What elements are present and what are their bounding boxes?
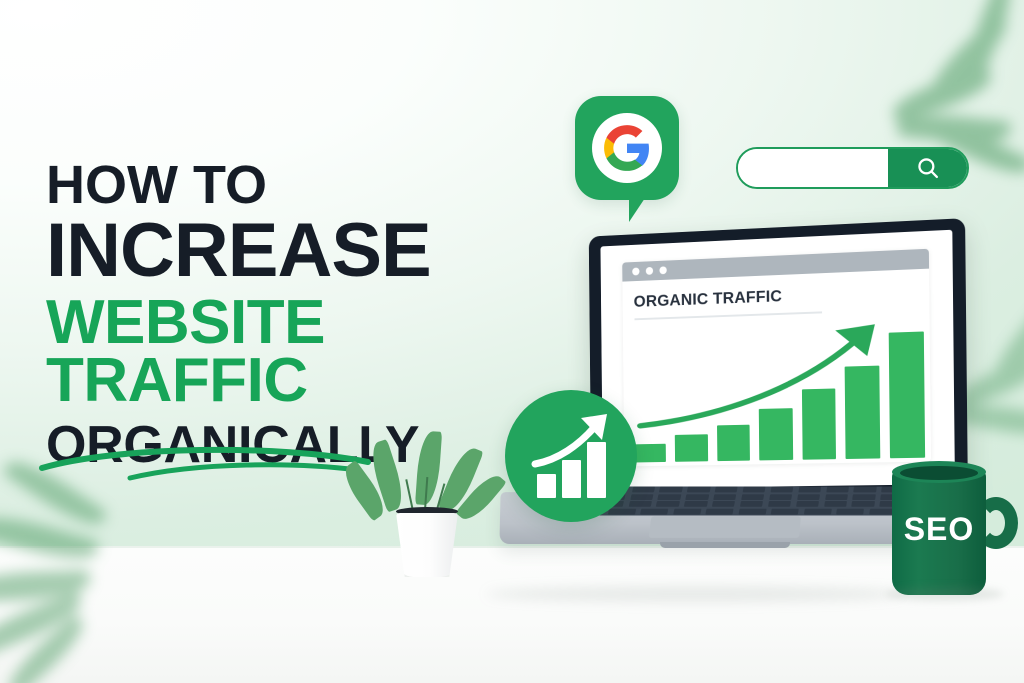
browser-title-bar (622, 249, 928, 282)
poster-canvas: HOW TO INCREASE WEBSITE TRAFFIC ORGANICA… (0, 0, 1024, 683)
keyboard-key[interactable] (826, 487, 849, 493)
chart-bar (889, 331, 925, 458)
laptop-trackpad[interactable] (649, 516, 801, 538)
laptop-shadow (486, 586, 906, 602)
keyboard-key[interactable] (796, 501, 819, 507)
keyboard-key[interactable] (641, 508, 669, 514)
search-button[interactable] (888, 149, 967, 187)
keyboard-key[interactable] (768, 501, 791, 507)
headline-line-1: HOW TO (46, 160, 586, 211)
keyboard-key[interactable] (797, 494, 820, 500)
keyboard-key[interactable] (673, 508, 701, 514)
potted-plant (365, 437, 487, 577)
leaf-blob-bottom-left-icon (0, 480, 180, 670)
laptop-front-lip (660, 542, 790, 548)
keyboard-key[interactable] (712, 501, 736, 507)
keyboard-key[interactable] (825, 494, 848, 500)
mug-label: SEO (892, 511, 986, 548)
chart-bar (802, 389, 837, 460)
keyboard-key[interactable] (706, 508, 734, 514)
keyboard-key[interactable] (656, 501, 680, 507)
growth-chart-arrow-icon (505, 390, 637, 522)
keyboard-key[interactable] (684, 501, 708, 507)
keyboard-key[interactable] (770, 487, 793, 493)
google-speech-bubble[interactable] (575, 96, 679, 200)
mug-interior (900, 466, 978, 480)
chart-title: ORGANIC TRAFFIC (634, 286, 783, 311)
keyboard-key[interactable] (804, 508, 832, 514)
chart-bar (845, 365, 880, 459)
keyboard-key[interactable] (769, 494, 792, 500)
keyboard-key[interactable] (853, 494, 876, 500)
keyboard-key[interactable] (740, 501, 763, 507)
keyboard-key[interactable] (687, 487, 710, 493)
window-dot-2-icon (646, 267, 653, 275)
keyboard-key[interactable] (854, 487, 877, 493)
swoosh-underline-icon (38, 440, 378, 486)
keyboard-key[interactable] (771, 508, 799, 514)
chart-bar (717, 424, 751, 461)
keyboard-key[interactable] (852, 501, 875, 507)
plant-leaf-3-icon (415, 430, 442, 505)
keyboard-key[interactable] (798, 487, 821, 493)
growth-badge[interactable] (505, 390, 637, 522)
keyboard-key[interactable] (824, 501, 847, 507)
laptop-screen: ORGANIC TRAFFIC (600, 230, 954, 489)
seo-mug: SEO (892, 459, 1024, 605)
mug-shadow (886, 587, 1004, 601)
keyboard-key[interactable] (658, 494, 682, 500)
chart-bar (675, 435, 708, 462)
keyboard-key[interactable] (741, 494, 764, 500)
browser-window[interactable]: ORGANIC TRAFFIC (622, 249, 930, 467)
keyboard-key[interactable] (743, 487, 766, 493)
google-logo-disc (592, 113, 662, 183)
search-bar[interactable] (736, 147, 969, 189)
window-dot-1-icon (632, 267, 639, 275)
search-input[interactable] (738, 149, 890, 187)
bar-chart-plot (632, 314, 925, 462)
keyboard-key[interactable] (715, 487, 738, 493)
keyboard-key[interactable] (659, 487, 682, 493)
keyboard-key[interactable] (837, 508, 865, 514)
google-g-icon (602, 123, 652, 173)
keyboard-key[interactable] (713, 494, 736, 500)
leaf-blob-top-right-icon (880, 10, 1024, 170)
keyboard-key[interactable] (739, 508, 767, 514)
plant-pot (396, 513, 458, 577)
window-dot-3-icon (660, 266, 667, 274)
search-icon (915, 155, 941, 181)
chart-bar (633, 443, 666, 462)
keyboard-key[interactable] (686, 494, 710, 500)
chart-bar (759, 409, 793, 461)
